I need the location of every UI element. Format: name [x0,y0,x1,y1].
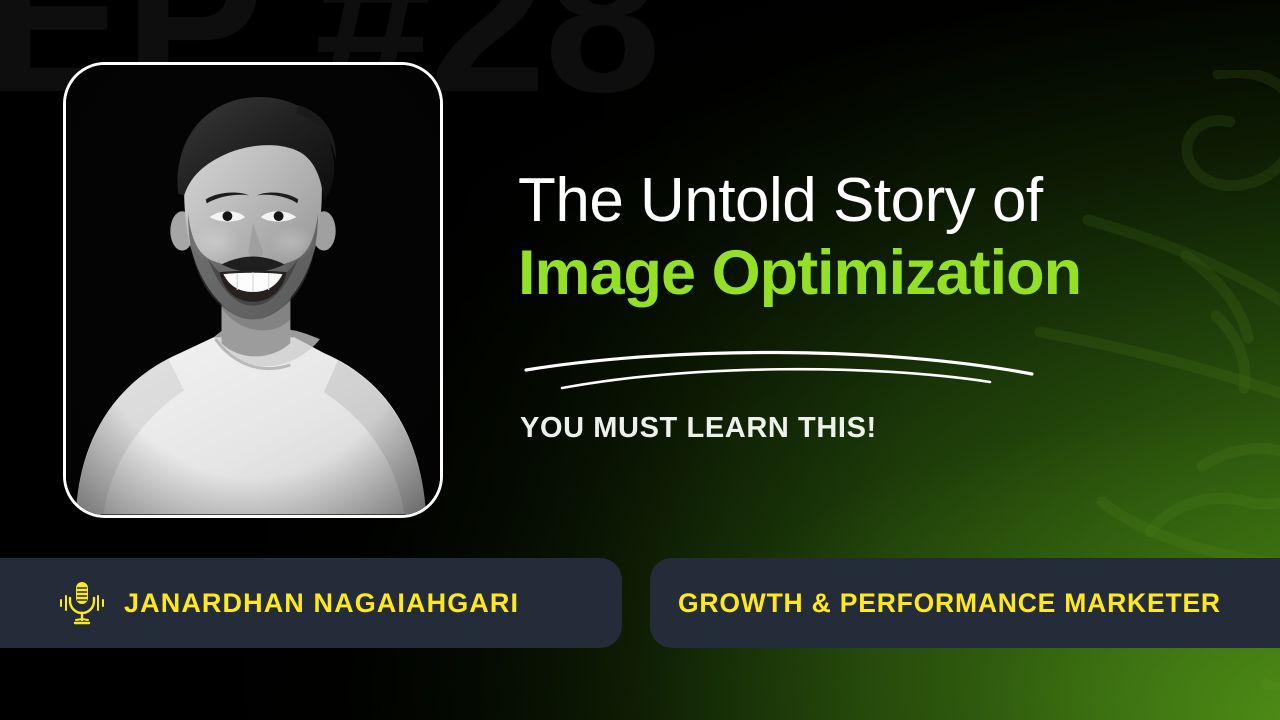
microphone-icon [60,580,104,626]
speaker-role-bar: GROWTH & PERFORMANCE MARKETER [650,558,1280,648]
sub-headline: YOU MUST LEARN THIS! [520,412,877,445]
podcast-episode-poster: EP #28 [0,0,1280,720]
speaker-role: GROWTH & PERFORMANCE MARKETER [678,588,1221,619]
speaker-name: JANARDHAN NAGAIAHGARI [124,588,519,619]
speaker-name-bar: JANARDHAN NAGAIAHGARI [0,558,622,648]
headline-line-1: The Untold Story of [518,168,1218,235]
speaker-portrait-frame [63,62,443,518]
headline-block: The Untold Story of Image Optimization [518,168,1218,308]
speaker-portrait-photo [66,65,440,515]
headline-line-2: Image Optimization [518,239,1218,308]
